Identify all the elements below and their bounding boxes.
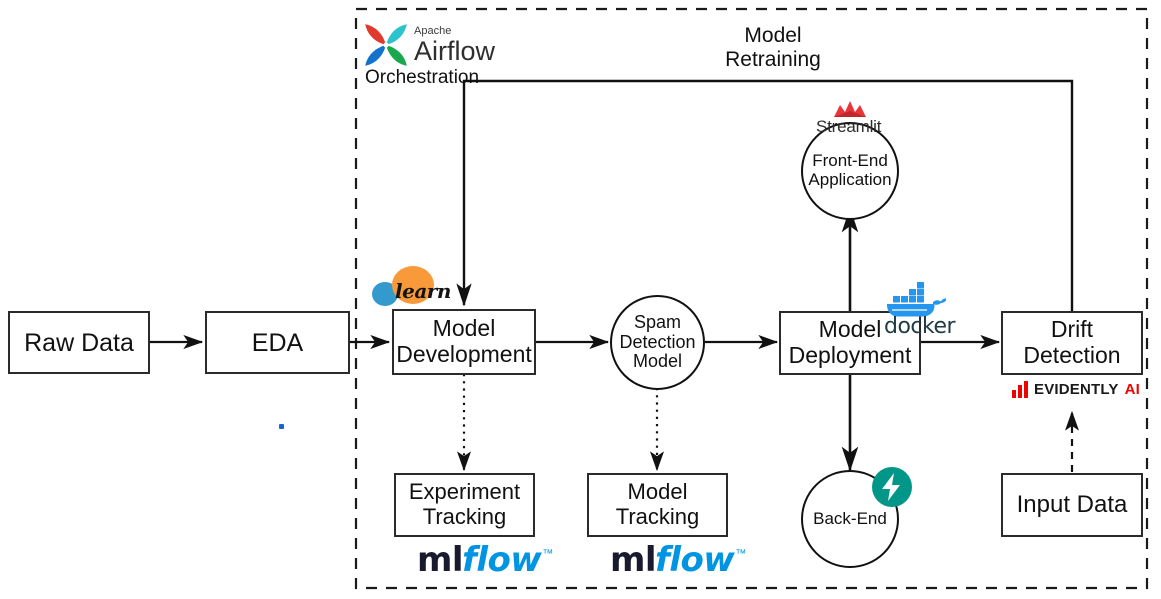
sklearn-learn-text: learn: [395, 279, 451, 303]
node-spam-detection-model-label-line2: Detection: [619, 333, 695, 353]
docker-wordmark-text: docker: [884, 314, 955, 339]
mlflow-ml-text-2: ml: [610, 540, 656, 580]
node-input-data-label: Input Data: [1017, 492, 1128, 519]
diagram-canvas: Model Retraining Apache Airflow Orchestr…: [0, 0, 1161, 599]
model-retraining-label-line1: Model: [708, 24, 838, 48]
node-model-development-label-line1: Model: [433, 316, 496, 342]
node-back-end-label: Back-End: [813, 510, 887, 529]
edge-retraining-feedback: [464, 81, 1072, 311]
fastapi-bolt-icon: [871, 466, 913, 508]
node-experiment-tracking[interactable]: Experiment Tracking: [394, 473, 535, 537]
evidently-word2-text: AI: [1125, 381, 1140, 398]
mlflow-logo-model-tracking: ml flow ™: [610, 540, 746, 580]
airflow-pinwheel-icon: [360, 19, 412, 71]
model-retraining-label-line2: Retraining: [708, 48, 838, 72]
stray-dot-marker: [279, 424, 284, 429]
node-eda-label: EDA: [252, 329, 303, 357]
node-eda[interactable]: EDA: [205, 311, 350, 374]
evidently-word1-text: EVIDENTLY: [1034, 381, 1119, 398]
mlflow-tm-mark: ™: [542, 548, 553, 560]
node-input-data[interactable]: Input Data: [1001, 473, 1143, 537]
streamlit-logo: [832, 99, 868, 119]
mlflow-flow-text: flow: [462, 540, 541, 580]
orchestration-caption: Orchestration: [365, 67, 479, 88]
streamlit-flame-icon: [832, 99, 868, 119]
airflow-name-text: Airflow: [414, 38, 495, 65]
node-model-tracking[interactable]: Model Tracking: [587, 473, 728, 537]
evidently-bars-icon: [1012, 381, 1028, 398]
model-retraining-label: Model Retraining: [708, 24, 838, 71]
docker-whale-icon: [884, 279, 946, 319]
node-model-development[interactable]: Model Development: [392, 309, 536, 375]
orchestration-caption-text: Orchestration: [365, 67, 479, 88]
sklearn-logo: scikit learn: [371, 266, 443, 310]
mlflow-tm-mark-2: ™: [735, 548, 746, 560]
node-model-tracking-label-line2: Tracking: [616, 505, 700, 530]
node-experiment-tracking-label-line1: Experiment: [409, 480, 520, 505]
node-model-deployment-label-line1: Model: [819, 317, 882, 343]
node-model-deployment-label-line2: Deployment: [789, 343, 912, 369]
node-spam-detection-model-label-line3: Model: [633, 352, 682, 372]
connector-layer: [0, 0, 1161, 599]
node-spam-detection-model[interactable]: Spam Detection Model: [610, 295, 705, 390]
node-front-end-application-label-line1: Front-End: [812, 152, 888, 171]
node-model-tracking-label-line1: Model: [628, 480, 688, 505]
node-model-development-label-line2: Development: [396, 342, 532, 368]
node-raw-data-label: Raw Data: [24, 329, 134, 357]
node-drift-detection-label-line2: Detection: [1023, 343, 1120, 369]
node-front-end-application-label-line2: Application: [808, 171, 891, 190]
node-spam-detection-model-label-line1: Spam: [634, 313, 681, 333]
fastapi-logo: [871, 466, 913, 508]
mlflow-flow-text-2: flow: [655, 540, 734, 580]
streamlit-wordmark-text: Streamlit: [816, 117, 881, 136]
mlflow-logo-experiment-tracking: ml flow ™: [417, 540, 553, 580]
node-experiment-tracking-label-line2: Tracking: [423, 505, 507, 530]
node-drift-detection[interactable]: Drift Detection: [1001, 311, 1143, 375]
docker-logo: [884, 279, 946, 319]
airflow-logo: [360, 19, 412, 71]
streamlit-wordmark: Streamlit: [816, 117, 881, 137]
mlflow-ml-text: ml: [417, 540, 463, 580]
node-drift-detection-label-line1: Drift: [1051, 317, 1093, 343]
node-raw-data[interactable]: Raw Data: [8, 311, 150, 374]
airflow-wordmark: Apache Airflow: [414, 26, 495, 65]
evidently-ai-logo: EVIDENTLY AI: [1012, 381, 1140, 398]
docker-wordmark: docker: [884, 314, 955, 339]
